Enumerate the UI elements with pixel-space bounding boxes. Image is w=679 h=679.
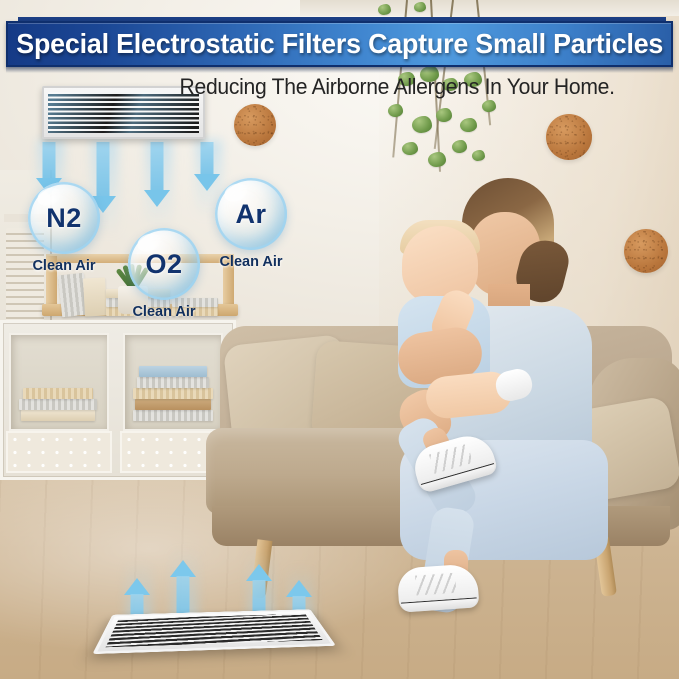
gas-badge-o2: O2 Clean Air xyxy=(118,228,210,320)
shoe-laces xyxy=(415,573,456,596)
gas-symbol: O2 xyxy=(128,228,200,300)
shoe-laces xyxy=(429,444,473,474)
baby-head xyxy=(402,226,478,304)
subtitle-text: Reducing The Airborne Allergens In Your … xyxy=(14,74,666,100)
gas-symbol: N2 xyxy=(28,182,100,254)
gas-badge-ar: Ar Clean Air xyxy=(205,178,297,270)
mother-sneaker xyxy=(397,563,480,612)
cork-circle-decor xyxy=(546,114,592,160)
mother-and-baby xyxy=(392,178,624,630)
gas-symbol: Ar xyxy=(215,178,287,250)
product-marketing-image: N2 Clean Air O2 Clean Air Ar Clean Air S… xyxy=(0,0,679,679)
gas-badge-caption: Clean Air xyxy=(18,258,110,274)
cork-circle-decor xyxy=(624,229,668,273)
headline-banner: Special Electrostatic Filters Capture Sm… xyxy=(6,21,673,67)
storage-bin xyxy=(6,431,112,473)
subtitle-label: Reducing The Airborne Allergens In Your … xyxy=(64,74,614,99)
cork-circle-decor xyxy=(234,104,276,146)
shelf-cube xyxy=(9,333,109,431)
gas-badge-caption: Clean Air xyxy=(205,254,297,270)
bubble-icon: N2 xyxy=(28,182,100,254)
gas-badge-n2: N2 Clean Air xyxy=(18,182,110,274)
bubble-icon: Ar xyxy=(215,178,287,250)
banner-drop-shadow xyxy=(6,67,673,73)
airflow-arrow-down xyxy=(142,142,172,208)
cube-shelving-unit xyxy=(0,320,236,480)
register-louvers xyxy=(106,614,323,648)
bubble-icon: O2 xyxy=(128,228,200,300)
gas-badge-caption: Clean Air xyxy=(118,304,210,320)
headline-text: Special Electrostatic Filters Capture Sm… xyxy=(16,28,663,60)
